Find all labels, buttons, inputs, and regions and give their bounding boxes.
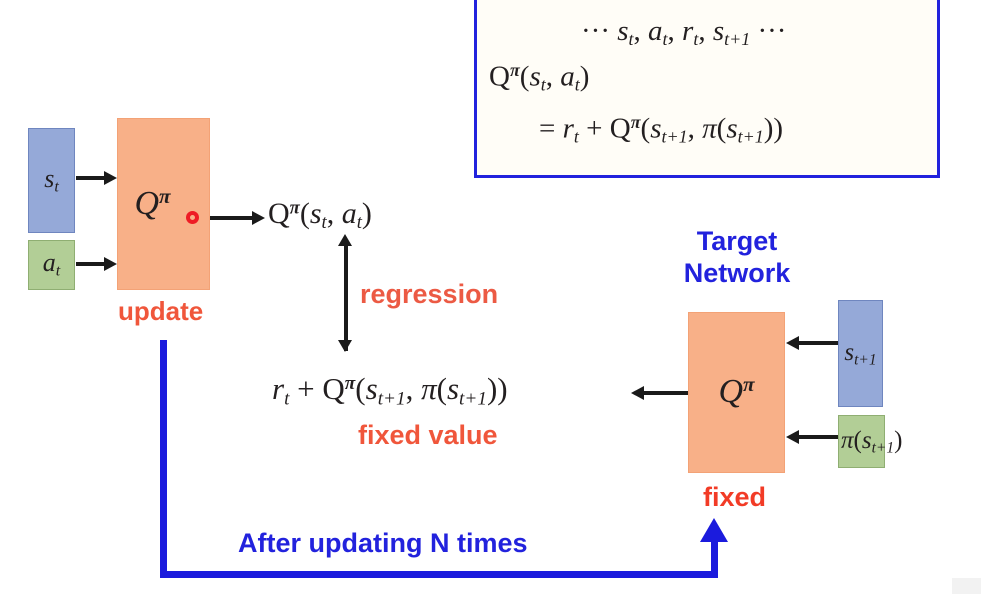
arrow-network-to-output-head-icon [252, 211, 265, 225]
input-state-block: st [28, 128, 75, 233]
target-input-state-block: st+1 [838, 300, 883, 407]
input-state-label: st [44, 166, 59, 196]
target-input-policy-block: π(st+1) [838, 415, 885, 468]
arrow-policy-to-target-network-head-icon [786, 430, 799, 444]
update-network-label: Qπ [134, 186, 170, 221]
feedback-label: After updating N times [238, 528, 528, 559]
output-node-marker-icon [186, 211, 199, 224]
arrow-target-network-to-value-head-icon [631, 386, 644, 400]
target-network-heading: Target Network [672, 226, 802, 290]
regression-label: regression [360, 279, 498, 310]
arrow-network-to-output [210, 216, 254, 220]
target-network-label: Qπ [718, 374, 754, 409]
target-input-policy-label: π(st+1) [841, 428, 902, 456]
slide-canvas: Q ··· st, at, rt, st+1 ··· Qπ(st, at) = … [0, 0, 981, 594]
feedback-path-left-segment [160, 340, 167, 578]
feedback-path-arrow-head-icon [700, 518, 728, 542]
regression-arrow-head-up-icon [338, 234, 352, 246]
regression-arrow-head-down-icon [338, 340, 352, 352]
input-action-block: at [28, 240, 75, 290]
target-input-state-label: st+1 [844, 340, 876, 368]
formula-line-transition: ··· st, at, rt, st+1 ··· [581, 17, 786, 48]
arrow-state-to-network-head-icon [104, 171, 117, 185]
regression-arrow-shaft [344, 243, 348, 351]
fixed-value-caption: fixed value [358, 420, 498, 451]
update-network-block: Qπ [117, 118, 210, 290]
arrow-state-to-target-network [799, 341, 838, 345]
target-network-heading-line1: Target [672, 226, 802, 258]
input-action-label: at [43, 250, 60, 280]
formula-line-q: Qπ(st, at) [489, 61, 589, 93]
arrow-policy-to-target-network [799, 435, 838, 439]
arrow-target-network-to-value [644, 391, 688, 395]
arrow-state-to-target-network-head-icon [786, 336, 799, 350]
arrow-action-to-network [76, 262, 106, 266]
arrow-state-to-network [76, 176, 106, 180]
update-caption: update [118, 296, 203, 327]
target-network-heading-line2: Network [672, 258, 802, 290]
feedback-path-bottom-segment [160, 571, 718, 578]
target-value-expression: rt + Qπ(st+1, π(st+1)) [272, 373, 508, 409]
arrow-action-to-network-head-icon [104, 257, 117, 271]
feedback-path-right-segment [711, 540, 718, 578]
target-network-block: Qπ [688, 312, 785, 473]
fixed-caption: fixed [703, 482, 766, 513]
page-edge-artifact [952, 578, 981, 594]
formula-box: ··· st, at, rt, st+1 ··· Qπ(st, at) = rt… [474, 0, 940, 178]
formula-line-bellman: = rt + Qπ(st+1, π(st+1)) [539, 113, 783, 145]
network-output-expression: Qπ(st, at) [268, 199, 372, 233]
